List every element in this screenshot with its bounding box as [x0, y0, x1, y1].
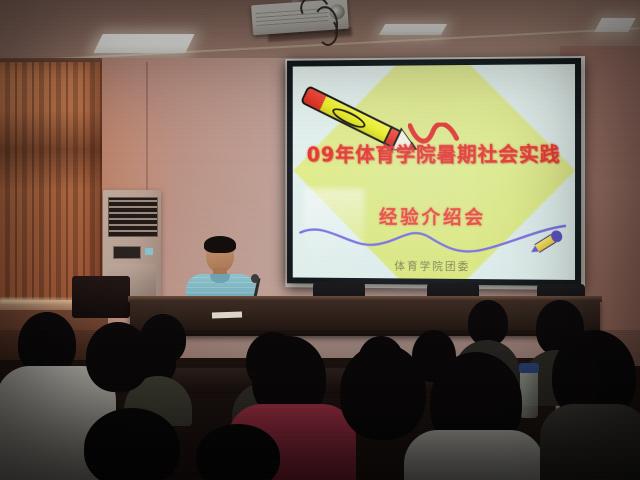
projector-cable: [318, 18, 338, 46]
microphone-head: [251, 274, 259, 283]
curtain-shadow: [0, 110, 102, 190]
ac-vent-louvers: [108, 197, 158, 237]
purple-wave-decoration: [298, 223, 567, 258]
presenter-table: [130, 300, 600, 336]
speaker-hair: [204, 236, 236, 253]
ac-control-panel[interactable]: [113, 246, 141, 259]
audience-head: [140, 314, 186, 364]
slide-footer: 体育学院团委: [293, 257, 575, 275]
slide-title: 09年体育学院暑期社会实践: [293, 138, 575, 167]
ac-indicator-light: [145, 248, 153, 255]
water-bottle: [520, 370, 538, 418]
projection-screen-frame: 09年体育学院暑期社会实践 经验介绍会 体育学院团委: [287, 58, 581, 286]
ceiling-light-fixture: [93, 34, 194, 53]
audience-top: [540, 404, 640, 480]
chair: [72, 276, 130, 318]
audience-head: [84, 408, 180, 480]
lecture-hall-photo: 09年体育学院暑期社会实践 经验介绍会 体育学院团委: [0, 0, 640, 480]
ceiling-light-fixture: [379, 24, 447, 35]
water-bottle-cap: [519, 363, 539, 373]
paper-sheets: [212, 311, 242, 318]
audience-white-shirt: [404, 430, 544, 480]
projection-screen: 09年体育学院暑期社会实践 经验介绍会 体育学院团委: [293, 64, 575, 280]
audience-head: [340, 344, 426, 440]
